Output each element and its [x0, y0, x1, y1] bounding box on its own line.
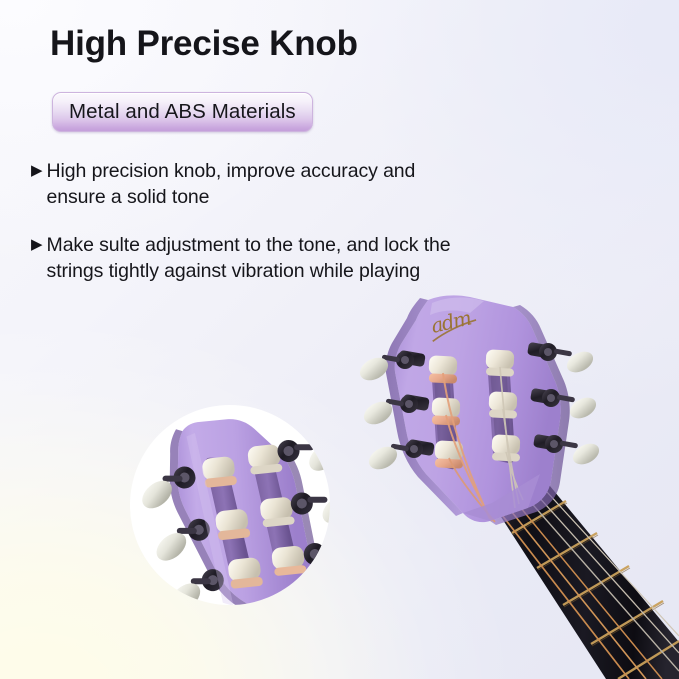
- list-item: ▶ Make sulte adjustment to the tone, and…: [31, 232, 451, 284]
- feature-bullet-list: ▶ High precision knob, improve accuracy …: [31, 158, 451, 306]
- materials-badge: Metal and ABS Materials: [52, 92, 313, 132]
- list-item-text: High precision knob, improve accuracy an…: [47, 158, 451, 210]
- page-title: High Precise Knob: [50, 24, 358, 64]
- product-feature-poster: adm: [0, 0, 679, 679]
- list-item: ▶ High precision knob, improve accuracy …: [31, 158, 451, 210]
- list-item-text: Make sulte adjustment to the tone, and l…: [47, 232, 451, 284]
- bullet-triangle-icon: ▶: [31, 232, 43, 258]
- text-content: High Precise Knob Metal and ABS Material…: [0, 0, 679, 679]
- materials-badge-label: Metal and ABS Materials: [69, 100, 296, 124]
- bullet-triangle-icon: ▶: [31, 158, 43, 184]
